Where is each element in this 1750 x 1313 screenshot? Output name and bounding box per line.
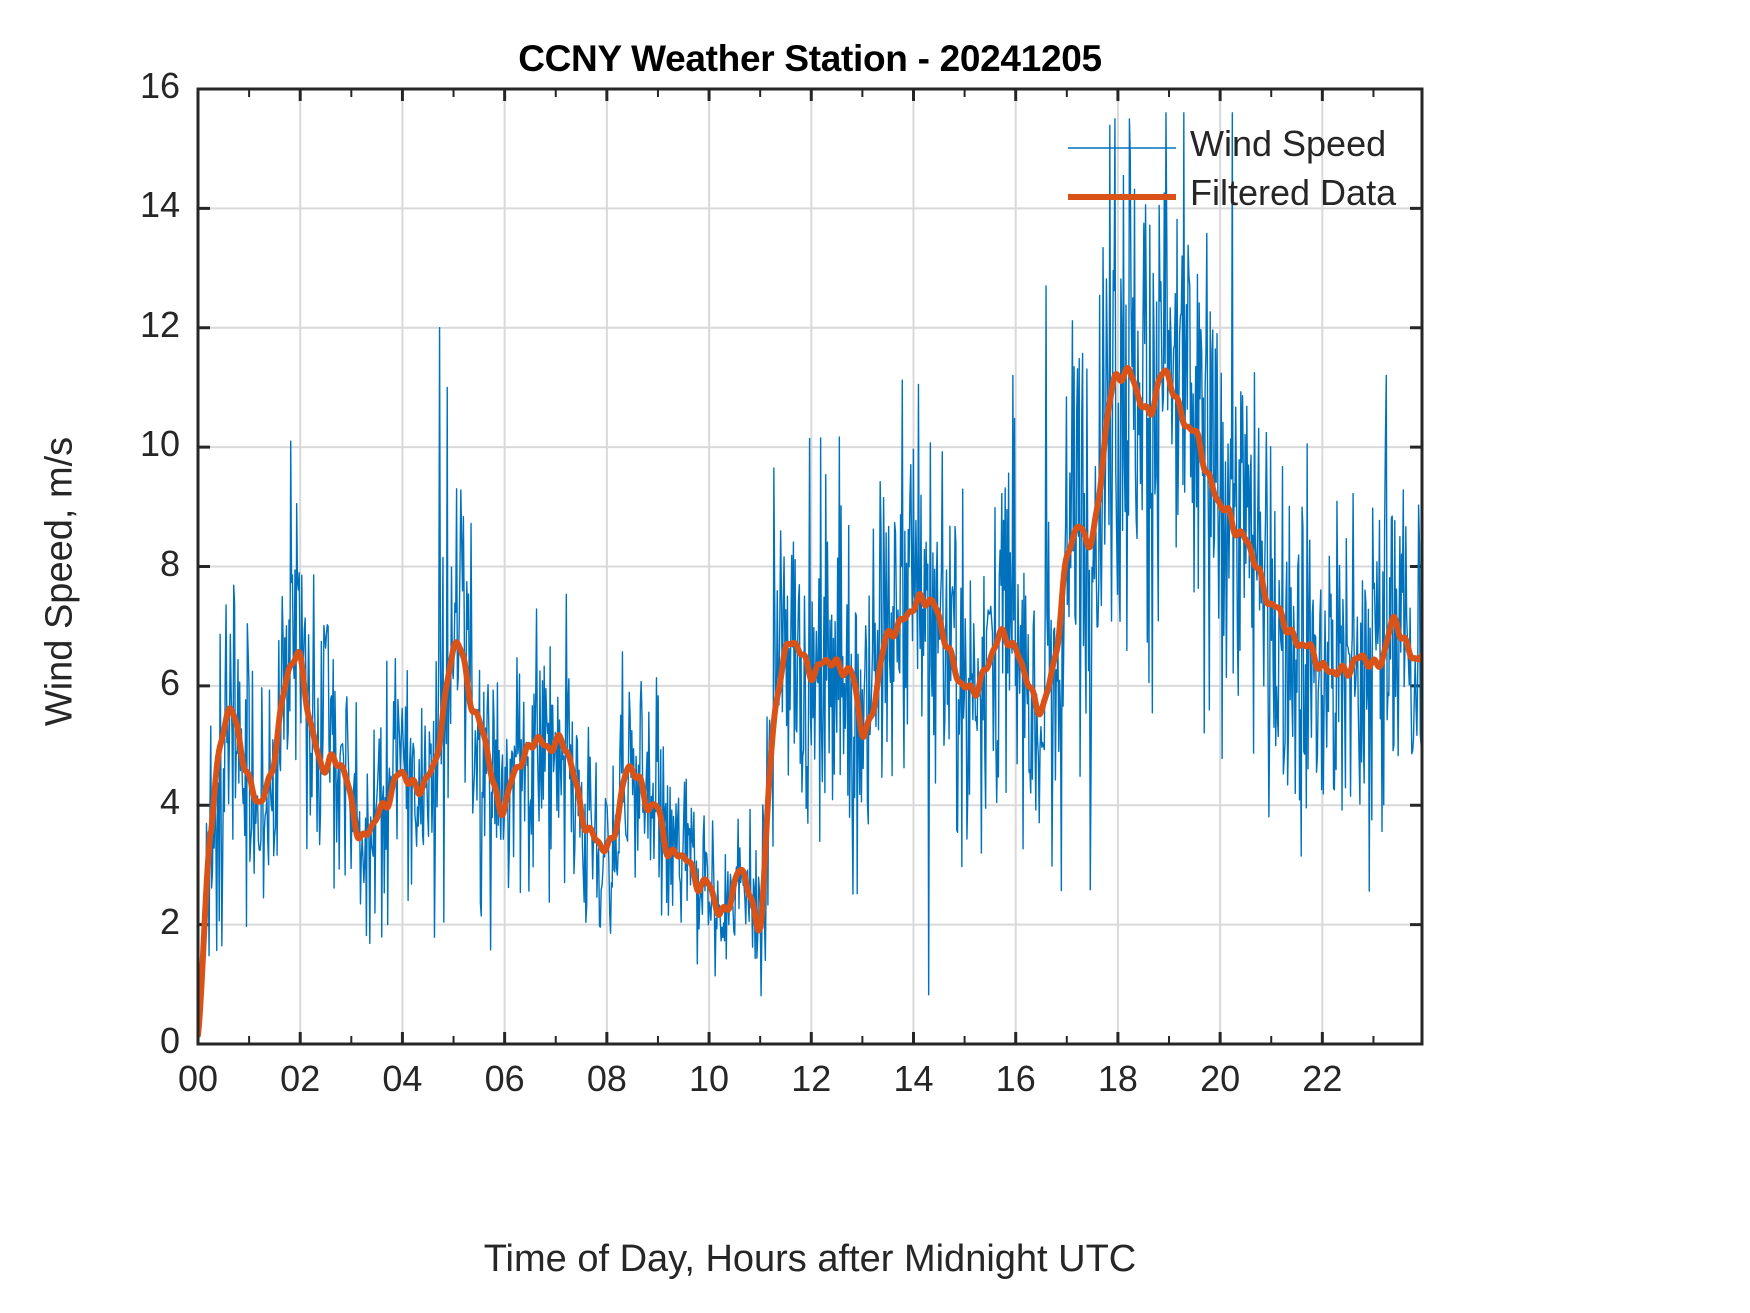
- y-tick-label: 12: [110, 304, 180, 346]
- legend: [1068, 148, 1176, 197]
- y-tick-label: 8: [110, 543, 180, 585]
- y-tick-label: 16: [110, 65, 180, 107]
- y-tick-label: 6: [110, 662, 180, 704]
- data-series: [198, 113, 1422, 1035]
- legend-label-wind-speed: Wind Speed: [1190, 123, 1386, 165]
- y-tick-label: 0: [110, 1020, 180, 1062]
- legend-label-filtered-data: Filtered Data: [1190, 172, 1396, 214]
- y-tick-label: 4: [110, 781, 180, 823]
- x-tick-label: 22: [1262, 1058, 1382, 1100]
- y-tick-label: 10: [110, 423, 180, 465]
- y-tick-label: 14: [110, 184, 180, 226]
- y-tick-label: 2: [110, 901, 180, 943]
- plot-canvas: [0, 0, 1750, 1313]
- chart-figure: CCNY Weather Station - 20241205 Wind Spe…: [0, 0, 1750, 1313]
